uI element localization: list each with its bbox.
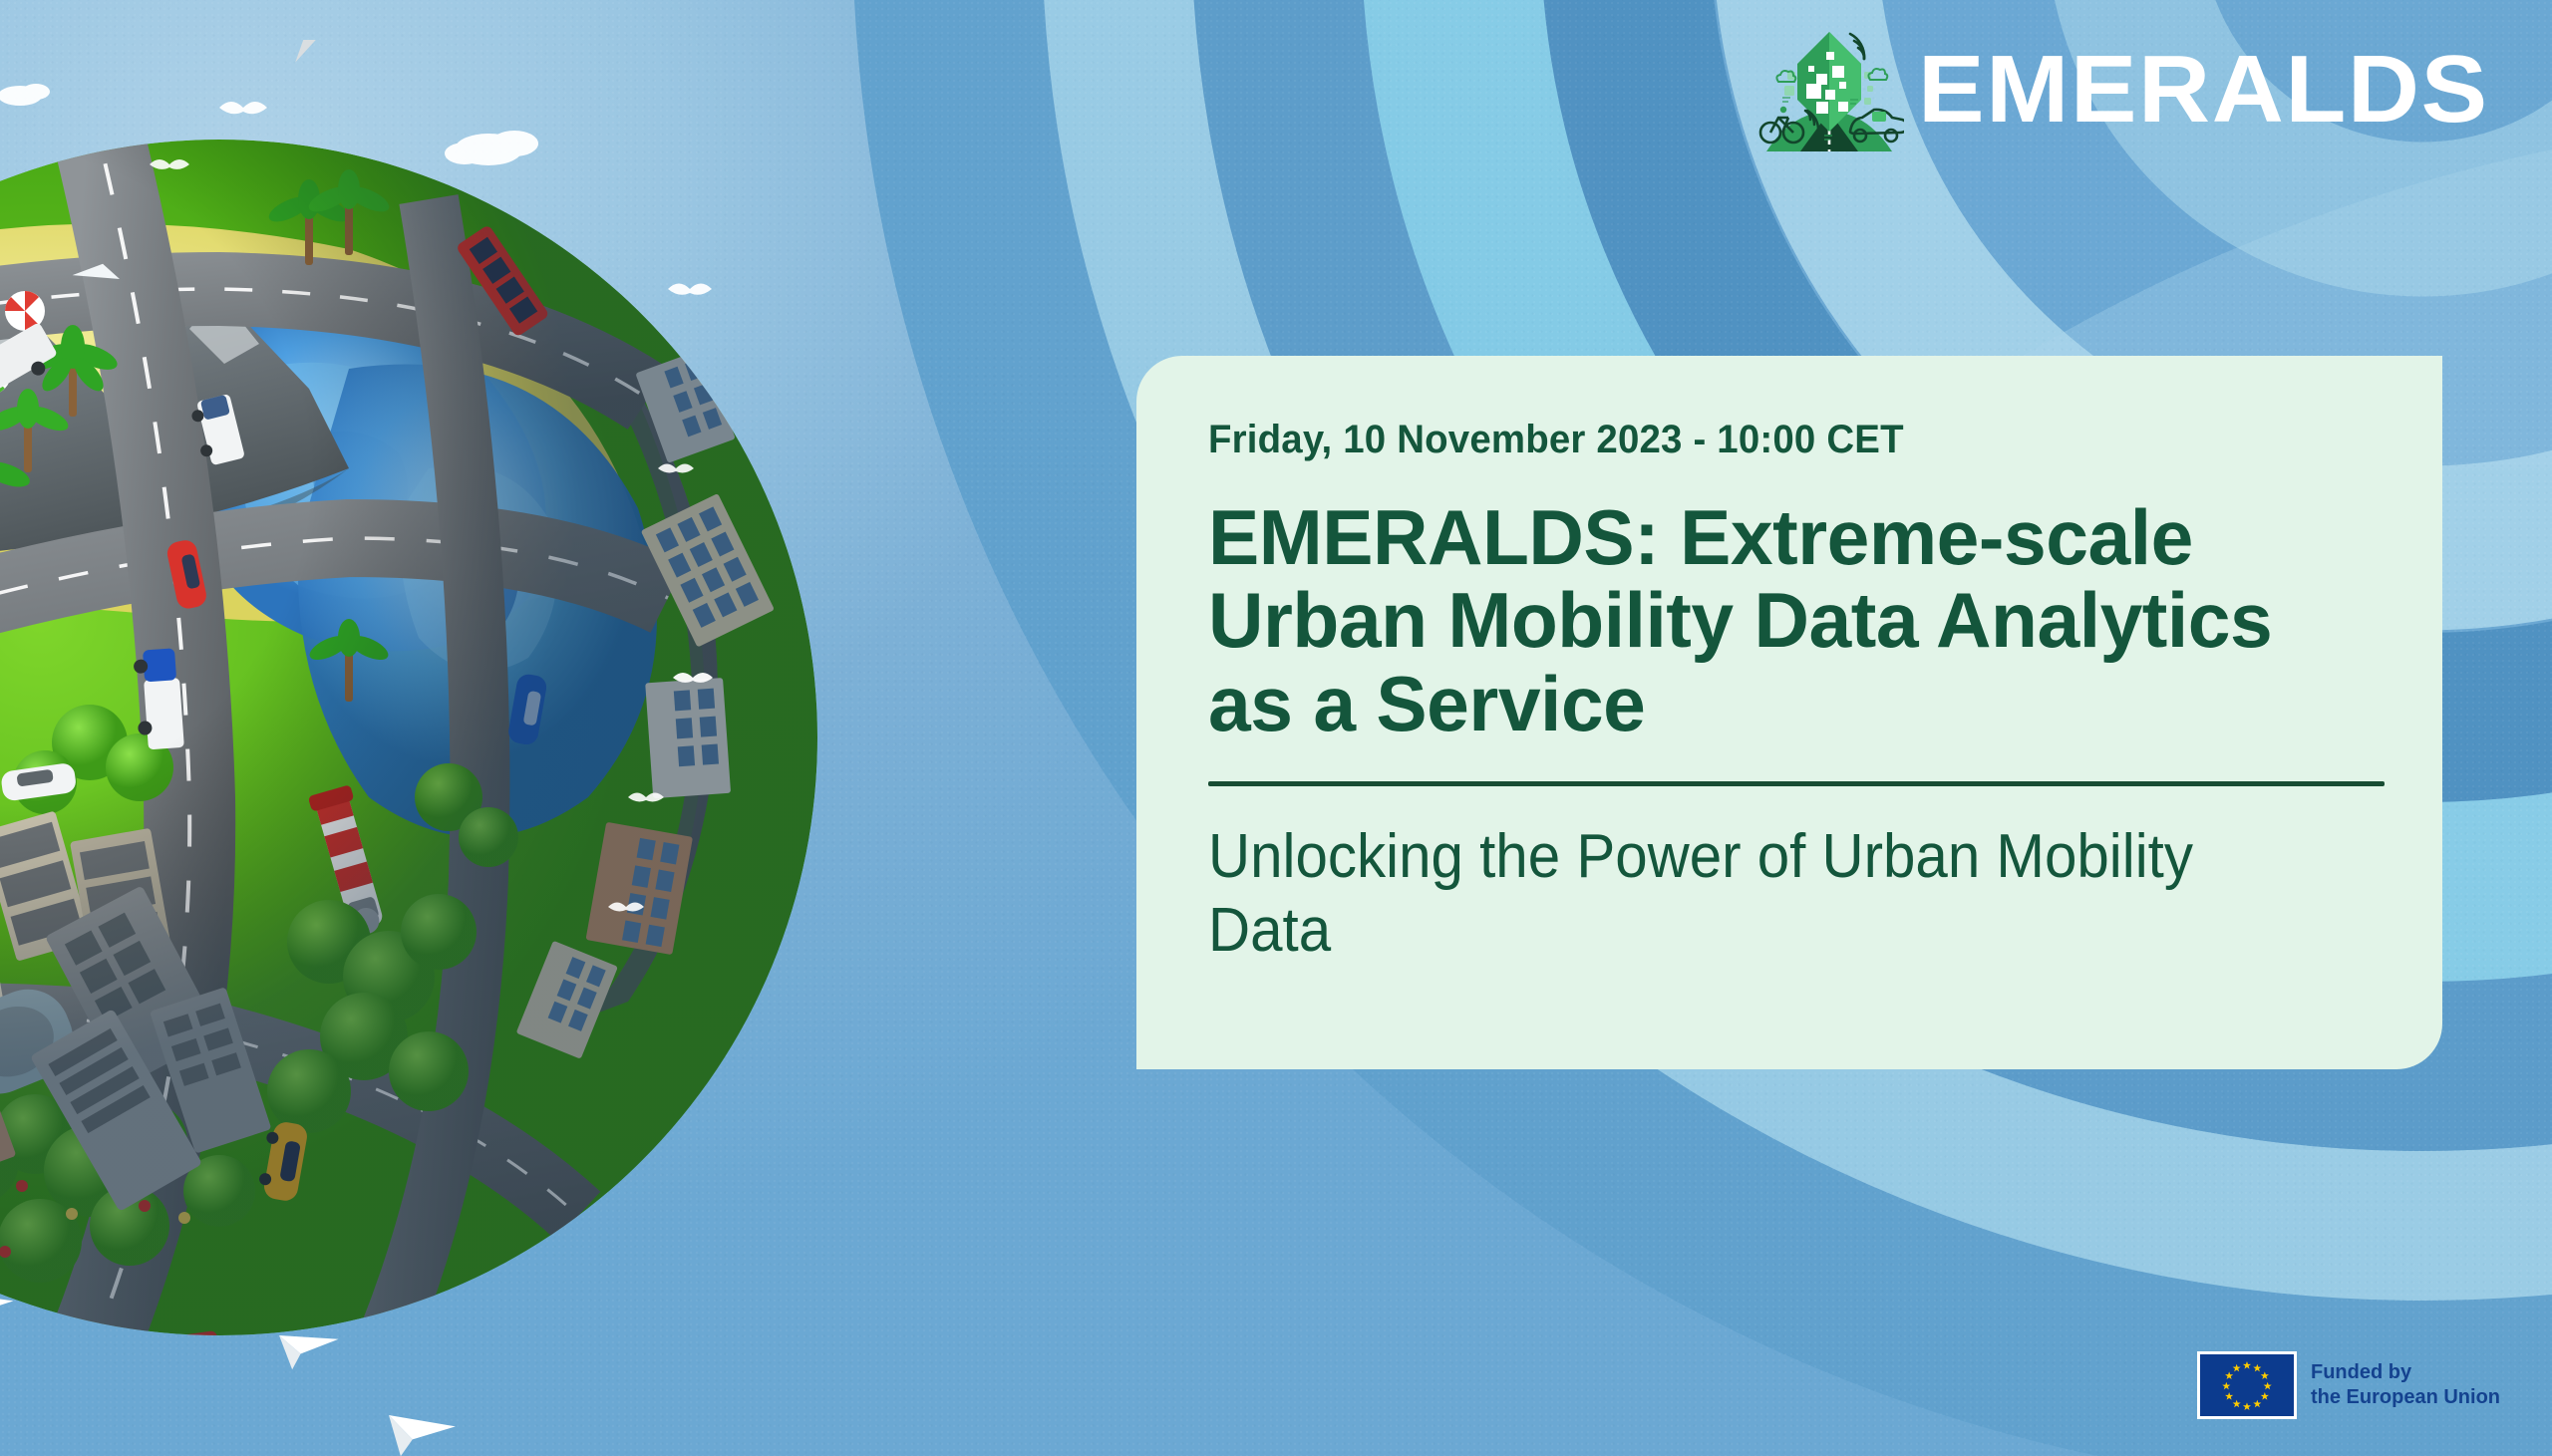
event-subtitle: Unlocking the Power of Urban Mobility Da… [1208,820,2310,966]
eu-funding-caption: Funded bythe European Union [2311,1360,2500,1410]
card-divider [1208,781,2385,786]
eu-stars [2200,1354,2294,1418]
emeralds-logo[interactable]: EMERALDS [1754,20,2467,159]
eu-funding-badge: Funded bythe European Union [2197,1351,2500,1419]
event-date: Friday, 10 November 2023 - 10:00 CET [1208,418,2334,462]
event-info-card: Friday, 10 November 2023 - 10:00 CET EME… [1136,356,2442,1069]
eu-funding-line2: the European Union [2311,1386,2500,1408]
event-title: EMERALDS: Extreme-scale Urban Mobility D… [1208,496,2363,745]
emerald-gem-road-icon [1754,20,1904,159]
emeralds-wordmark: EMERALDS [1918,42,2489,138]
eu-funding-line1: Funded by [2311,1361,2411,1383]
urban-mobility-globe-illustration [0,40,897,1456]
globe-svg [0,40,897,1456]
eu-flag-icon [2197,1351,2297,1419]
airplane [276,40,398,64]
